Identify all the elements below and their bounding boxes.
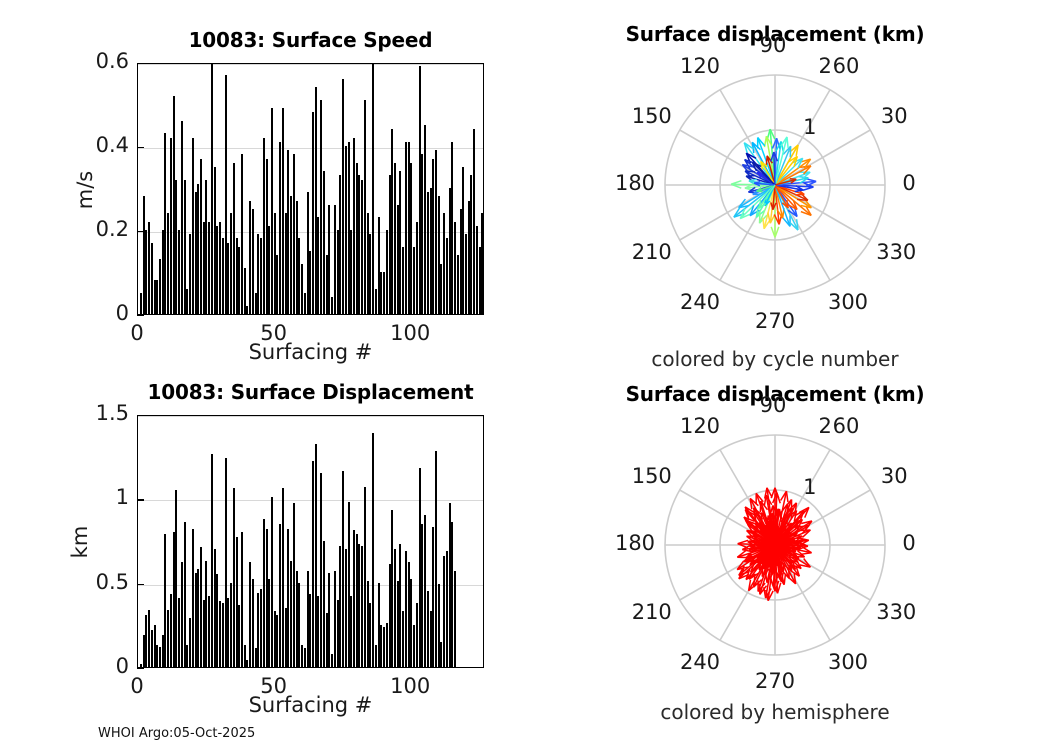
bar: [309, 251, 311, 314]
y-tick-mark: [137, 231, 144, 232]
bar: [159, 259, 161, 314]
bar: [260, 238, 262, 314]
bar: [241, 154, 243, 314]
bar: [440, 642, 442, 667]
bar-series: [138, 64, 483, 314]
bar: [225, 458, 227, 667]
bar: [257, 593, 259, 667]
bar: [274, 213, 276, 314]
polar-angle-label-180: 180: [605, 171, 665, 195]
bar: [367, 213, 369, 314]
bar: [394, 163, 396, 314]
polar-angle-label-0: 0: [879, 171, 939, 195]
bar: [337, 230, 339, 314]
bar: [410, 163, 412, 314]
bar: [233, 163, 235, 314]
polar-cycle-caption: colored by cycle number: [580, 347, 970, 371]
bar: [219, 222, 221, 314]
bar: [416, 603, 418, 667]
bar: [282, 108, 284, 314]
polar-angle-label-300: 300: [818, 650, 878, 674]
bar: [408, 142, 410, 314]
bar: [285, 608, 287, 667]
bar: [323, 171, 325, 314]
bar: [249, 562, 251, 667]
speed-ylabel: m/s: [73, 130, 97, 250]
bar: [413, 625, 415, 667]
bar: [443, 556, 445, 667]
bar: [454, 571, 456, 667]
bar: [358, 175, 360, 314]
polar-angle-label-330: 330: [866, 600, 926, 624]
bar: [140, 293, 142, 314]
bar: [457, 255, 459, 314]
bar: [317, 217, 319, 314]
bar: [293, 503, 295, 667]
bar-series: [138, 416, 483, 667]
bar: [345, 549, 347, 667]
bar: [432, 159, 434, 314]
bar: [369, 234, 371, 314]
bar: [266, 159, 268, 314]
bar: [465, 234, 467, 314]
bar: [375, 289, 377, 314]
bar: [143, 196, 145, 314]
bar: [181, 121, 183, 314]
bar: [205, 561, 207, 667]
bar: [255, 648, 257, 667]
y-tick-mark: [137, 315, 144, 316]
bar: [266, 529, 268, 667]
bar: [219, 601, 221, 667]
polar-angle-label-210: 210: [622, 600, 682, 624]
bar: [451, 522, 453, 667]
bar: [145, 230, 147, 314]
bar: [348, 502, 350, 667]
bar: [307, 192, 309, 314]
bar: [301, 645, 303, 667]
bar: [443, 213, 445, 314]
polar-angle-label-240: 240: [670, 290, 730, 314]
bar: [222, 603, 224, 667]
polar-angle-label-300: 300: [818, 290, 878, 314]
bar: [449, 503, 451, 667]
bar: [386, 623, 388, 667]
bar: [276, 615, 278, 667]
polar-angle-label-90: 90: [743, 393, 803, 417]
bar: [195, 573, 197, 667]
bar: [298, 583, 300, 667]
bar: [263, 138, 265, 314]
bar: [440, 264, 442, 314]
bar: [197, 569, 199, 667]
bar: [380, 625, 382, 667]
bar: [389, 564, 391, 667]
displacement-xlabel: Surfacing #: [137, 693, 484, 717]
bar: [225, 75, 227, 314]
y-tick-mark: [137, 415, 144, 416]
x-tick-mark: [274, 661, 275, 668]
bar: [296, 571, 298, 667]
bar: [312, 112, 314, 314]
bar: [186, 645, 188, 667]
bar: [173, 96, 175, 314]
bar: [140, 664, 142, 667]
bar: [315, 444, 317, 667]
bar: [337, 600, 339, 667]
bar: [356, 534, 358, 667]
bar: [173, 532, 175, 667]
bar: [427, 591, 429, 667]
bar: [326, 255, 328, 314]
bar: [151, 243, 153, 314]
x-tick-mark: [410, 308, 411, 315]
bar: [148, 222, 150, 314]
bar: [339, 546, 341, 667]
bar: [208, 596, 210, 667]
bar: [184, 180, 186, 314]
speed-xlabel: Surfacing #: [137, 340, 484, 364]
speed-title: 10083: Surface Speed: [137, 28, 484, 52]
bar: [233, 488, 235, 667]
bar: [348, 142, 350, 314]
bar: [389, 175, 391, 314]
bar: [328, 573, 330, 667]
bar: [246, 306, 248, 314]
bar: [238, 247, 240, 314]
bar: [361, 546, 363, 667]
polar-hemisphere-plot: 030609012015018021024027030033012: [640, 410, 910, 680]
bar: [222, 238, 224, 314]
bar: [230, 583, 232, 667]
polar-angle-label-150: 150: [622, 104, 682, 128]
bar: [181, 562, 183, 667]
bar: [197, 184, 199, 314]
bar: [263, 519, 265, 667]
bar: [430, 611, 432, 667]
bar: [164, 133, 166, 314]
bar: [402, 247, 404, 314]
bar: [230, 213, 232, 314]
bar: [331, 654, 333, 667]
bar: [435, 451, 437, 667]
bar: [304, 648, 306, 667]
bar: [378, 583, 380, 667]
bar: [405, 551, 407, 667]
bar: [211, 454, 213, 667]
displacement-title: 10083: Surface Displacement: [118, 380, 503, 404]
bar: [358, 544, 360, 667]
bar: [309, 594, 311, 667]
bar: [397, 205, 399, 314]
bar: [435, 150, 437, 314]
bar: [274, 611, 276, 667]
bar: [154, 280, 156, 314]
bar: [293, 154, 295, 314]
y-tick-label: 1.5: [45, 401, 129, 425]
bar: [216, 226, 218, 314]
bar: [216, 574, 218, 667]
bar: [416, 222, 418, 314]
bar: [162, 230, 164, 314]
bar: [287, 529, 289, 667]
bar: [200, 547, 202, 667]
bar: [320, 473, 322, 667]
bar: [468, 201, 470, 314]
bar: [252, 209, 254, 314]
bar: [380, 272, 382, 314]
bar: [236, 238, 238, 314]
bar: [186, 289, 188, 314]
bar: [214, 549, 216, 667]
bar: [419, 468, 421, 667]
bar: [353, 530, 355, 667]
bar: [159, 647, 161, 667]
bar: [470, 175, 472, 314]
polar-angle-label-330: 330: [866, 240, 926, 264]
bar: [317, 596, 319, 667]
bar: [192, 138, 194, 314]
bar: [244, 645, 246, 667]
bar: [279, 142, 281, 314]
speed-axes: [137, 63, 484, 315]
bar: [375, 645, 377, 667]
bar: [279, 524, 281, 667]
bar: [473, 129, 475, 314]
bar: [476, 226, 478, 314]
bar: [238, 605, 240, 667]
bar: [454, 222, 456, 314]
bar: [369, 603, 371, 667]
bar: [372, 63, 374, 314]
bar: [315, 87, 317, 314]
bar: [241, 532, 243, 667]
bar: [323, 541, 325, 668]
bar: [268, 226, 270, 314]
bar: [331, 297, 333, 314]
bar: [410, 579, 412, 667]
bar: [446, 238, 448, 314]
bar: [154, 625, 156, 667]
bar: [424, 125, 426, 314]
bar: [282, 488, 284, 667]
bar: [460, 209, 462, 314]
bar: [260, 589, 262, 667]
bar: [271, 497, 273, 667]
x-tick-mark: [410, 661, 411, 668]
bar: [200, 159, 202, 314]
bar: [481, 213, 483, 314]
bar: [271, 108, 273, 314]
y-tick-mark: [137, 668, 144, 669]
bar: [334, 571, 336, 667]
bar: [419, 66, 421, 314]
bar: [339, 175, 341, 314]
y-tick-mark: [137, 63, 144, 64]
bar: [227, 243, 229, 314]
bar: [356, 163, 358, 314]
polar-cycle-plot: 030609012015018021024027030033012: [640, 50, 910, 320]
bar: [203, 222, 205, 314]
bar: [364, 100, 366, 314]
bar: [301, 264, 303, 314]
bar: [276, 255, 278, 314]
polar-radius-label-2: 2: [813, 54, 837, 78]
displacement-axes: [137, 415, 484, 668]
bar: [372, 433, 374, 667]
y-tick-mark: [137, 147, 144, 148]
bar: [170, 594, 172, 667]
bar: [361, 180, 363, 314]
bar: [189, 618, 191, 667]
vector-series: [731, 129, 816, 237]
bar: [350, 596, 352, 667]
polar-radius-label-2: 2: [813, 414, 837, 438]
bar: [326, 613, 328, 667]
bar: [167, 213, 169, 314]
bar: [304, 293, 306, 314]
bar: [427, 192, 429, 314]
bar: [449, 188, 451, 314]
bar: [421, 524, 423, 667]
bar: [383, 272, 385, 314]
bar: [408, 562, 410, 667]
bar: [211, 63, 213, 314]
bar: [394, 549, 396, 667]
bar: [164, 534, 166, 667]
bar: [227, 598, 229, 667]
bar: [307, 571, 309, 667]
bar: [413, 247, 415, 314]
polar-radius-label-1: 1: [798, 475, 822, 499]
y-tick-mark: [137, 584, 144, 585]
bar: [143, 635, 145, 667]
bar: [296, 201, 298, 314]
polar-angle-label-210: 210: [622, 240, 682, 264]
bar: [350, 230, 352, 314]
bar: [285, 213, 287, 314]
bar: [156, 280, 158, 314]
bar: [386, 230, 388, 314]
polar-angle-label-120: 120: [670, 54, 730, 78]
bar: [446, 551, 448, 667]
bar: [170, 138, 172, 314]
polar-angle-label-150: 150: [622, 464, 682, 488]
bar: [214, 167, 216, 314]
bar: [383, 627, 385, 667]
bar: [399, 171, 401, 314]
polar-angle-label-0: 0: [879, 531, 939, 555]
bar: [167, 610, 169, 667]
displacement-ylabel: km: [68, 482, 92, 602]
bar: [151, 630, 153, 667]
bar: [205, 180, 207, 314]
bar: [328, 205, 330, 314]
bar: [290, 196, 292, 314]
bar: [175, 180, 177, 314]
bar: [342, 471, 344, 667]
bar: [287, 150, 289, 314]
bar: [353, 138, 355, 314]
bar: [334, 205, 336, 314]
polar-angle-label-120: 120: [670, 414, 730, 438]
bar: [298, 238, 300, 314]
bar: [257, 234, 259, 314]
y-tick-label: 0.6: [45, 49, 129, 73]
bar: [364, 487, 366, 667]
bar: [451, 142, 453, 314]
bar: [345, 146, 347, 314]
polar-angle-label-30: 30: [864, 104, 924, 128]
bar: [192, 529, 194, 667]
bar: [246, 660, 248, 667]
bar: [195, 192, 197, 314]
polar-angle-label-90: 90: [743, 33, 803, 57]
bar: [320, 100, 322, 314]
bar: [402, 611, 404, 667]
bar: [189, 234, 191, 314]
bar: [391, 510, 393, 667]
bar: [479, 247, 481, 314]
bar: [255, 293, 257, 314]
polar-angle-label-30: 30: [864, 464, 924, 488]
bar: [236, 537, 238, 667]
y-tick-mark: [137, 499, 144, 500]
bar: [268, 579, 270, 667]
bar: [397, 581, 399, 667]
bar: [342, 79, 344, 314]
bar: [178, 598, 180, 667]
bar: [438, 196, 440, 314]
bar: [175, 490, 177, 667]
bar: [438, 584, 440, 667]
bar: [424, 515, 426, 667]
bar: [432, 527, 434, 667]
bar: [162, 635, 164, 667]
bar: [178, 230, 180, 314]
polar-radius-label-1: 1: [798, 115, 822, 139]
x-tick-mark: [274, 308, 275, 315]
bar: [203, 600, 205, 667]
vector-series: [737, 488, 812, 601]
bar: [367, 581, 369, 667]
bar: [184, 522, 186, 667]
polar-angle-label-240: 240: [670, 650, 730, 674]
bar: [290, 561, 292, 667]
bar: [208, 222, 210, 314]
bar: [249, 201, 251, 314]
bar: [399, 544, 401, 667]
polar-angle-label-270: 270: [745, 669, 805, 693]
footer-credit: WHOI Argo:05-Oct-2025: [98, 726, 255, 741]
bar: [421, 154, 423, 314]
polar-angle-label-270: 270: [745, 309, 805, 333]
bar: [405, 142, 407, 314]
bar: [156, 645, 158, 667]
bar: [148, 610, 150, 667]
bar: [430, 188, 432, 314]
bar: [462, 167, 464, 314]
polar-hemi-caption: colored by hemisphere: [580, 700, 970, 724]
bar: [252, 579, 254, 667]
bar: [378, 217, 380, 314]
bar: [391, 129, 393, 314]
bar: [145, 615, 147, 667]
bar: [244, 268, 246, 314]
bar: [312, 461, 314, 667]
polar-angle-label-180: 180: [605, 531, 665, 555]
